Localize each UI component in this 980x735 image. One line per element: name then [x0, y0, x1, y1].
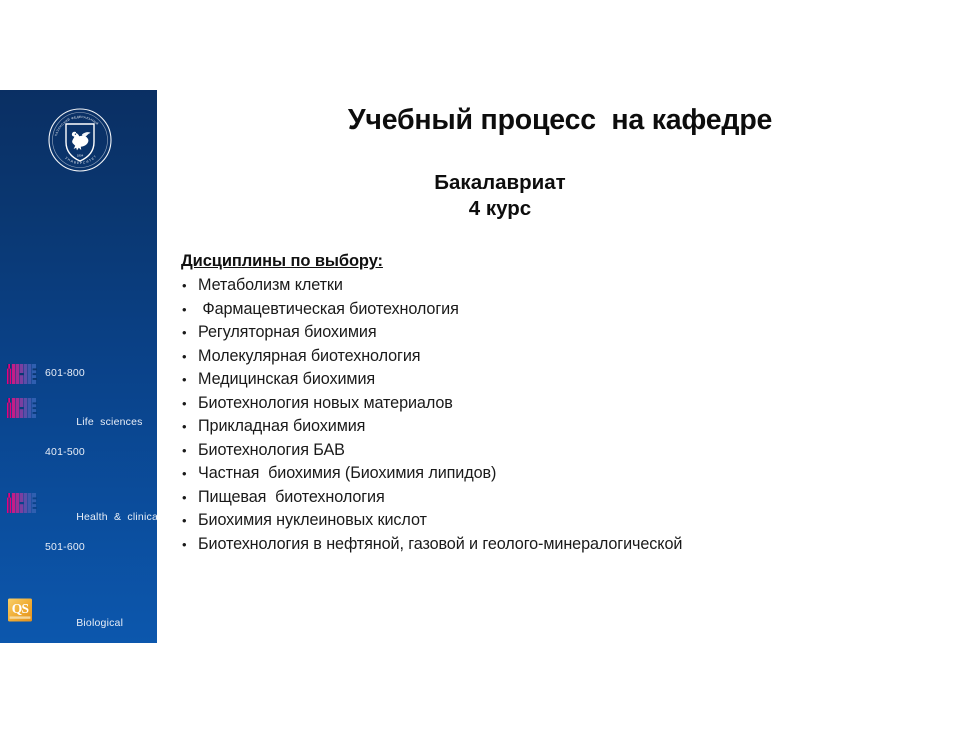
list-item-label: Метаболизм клетки [198, 276, 343, 294]
ranking-text-line1: Health & clinical [76, 511, 157, 523]
page-title: Учебный процесс на кафедре [180, 104, 940, 137]
list-item-label: Пищевая биотехнология [198, 488, 385, 506]
list-item-label: Биотехнология новых материалов [198, 394, 453, 412]
list-item-label: Биохимия нуклеиновых кислот [198, 511, 427, 529]
ranking-text-line1: Life sciences [76, 416, 142, 428]
list-item: •Частная биохимия (Биохимия липидов) [181, 462, 921, 486]
list-item: •Регуляторная биохимия [181, 321, 921, 345]
bullet-icon: • [182, 439, 186, 463]
disciplines-list: •Метаболизм клетки • Фармацевтическая би… [181, 274, 921, 556]
list-item: •Метаболизм клетки [181, 274, 921, 298]
the-logo-icon [7, 491, 37, 517]
list-item-label: Биотехнология в нефтяной, газовой и геол… [198, 535, 682, 553]
bullet-icon: • [182, 533, 186, 557]
subtitle-line-degree: Бакалавриат [180, 170, 820, 196]
list-item-label: Регуляторная биохимия [198, 323, 377, 341]
list-item-label: Медицинская биохимия [198, 370, 375, 388]
ranking-text-line1: Biological [76, 617, 123, 629]
slide-canvas: КАЗАНСКИЙ ФЕДЕРАЛЬНЫЙ УНИВЕРСИТЕТ 1804 [0, 0, 980, 735]
list-item: •Биотехнология БАВ [181, 439, 921, 463]
ranking-text: Biological sciences 401-450 [45, 597, 137, 643]
list-item: •Биотехнология в нефтяной, газовой и гео… [181, 533, 921, 557]
the-logo-icon [7, 396, 37, 422]
bullet-icon: • [182, 274, 186, 298]
bullet-icon: • [182, 392, 186, 416]
ranking-text: Health & clinical 501-600 [45, 491, 157, 585]
bullet-icon: • [182, 486, 186, 510]
disciplines-heading: Дисциплины по выбору: [181, 252, 383, 271]
university-emblem: КАЗАНСКИЙ ФЕДЕРАЛЬНЫЙ УНИВЕРСИТЕТ 1804 [46, 106, 114, 174]
list-item-label: Молекулярная биотехнология [198, 347, 420, 365]
list-item-label: Фармацевтическая биотехнология [198, 300, 459, 318]
svg-text:1804: 1804 [77, 154, 84, 158]
list-item-label: Частная биохимия (Биохимия липидов) [198, 464, 496, 482]
bullet-icon: • [182, 298, 186, 322]
list-item: •Биохимия нуклеиновых кислот [181, 509, 921, 533]
list-item: •Биотехнология новых материалов [181, 392, 921, 416]
bullet-icon: • [182, 368, 186, 392]
list-item: •Пищевая биотехнология [181, 486, 921, 510]
ranking-text: 601-800 [45, 362, 85, 381]
bullet-icon: • [182, 509, 186, 533]
svg-text:КАЗАНСКИЙ ФЕДЕРАЛЬНЫЙ: КАЗАНСКИЙ ФЕДЕРАЛЬНЫЙ [54, 115, 100, 136]
list-item: •Молекулярная биотехнология [181, 345, 921, 369]
ranking-row: Health & clinical 501-600 [0, 491, 157, 585]
the-logo-icon [7, 362, 37, 388]
subtitle-line-year: 4 курс [180, 196, 820, 222]
ranking-text: Life sciences 401-500 [45, 396, 143, 490]
ranking-text-line2: 401-500 [45, 445, 143, 460]
ranking-row: Life sciences 401-500 [0, 396, 157, 490]
bullet-icon: • [182, 415, 186, 439]
rankings-list: 601-800 [0, 362, 157, 643]
list-item-label: Биотехнология БАВ [198, 441, 345, 459]
bullet-icon: • [182, 462, 186, 486]
list-item: •Прикладная биохимия [181, 415, 921, 439]
ranking-text-line2: 501-600 [45, 540, 157, 555]
page-subtitle: Бакалавриат 4 курс [180, 170, 820, 222]
ranking-row: 601-800 [0, 362, 157, 388]
qs-logo-icon: QS [7, 597, 37, 623]
bullet-icon: • [182, 345, 186, 369]
list-item-label: Прикладная биохимия [198, 417, 365, 435]
svg-text:QS: QS [12, 601, 29, 616]
ranking-row: QS Biological sciences 401-450 [0, 597, 157, 643]
list-item: • Фармацевтическая биотехнология [181, 298, 921, 322]
list-item: •Медицинская биохимия [181, 368, 921, 392]
bullet-icon: • [182, 321, 186, 345]
brand-sidebar: КАЗАНСКИЙ ФЕДЕРАЛЬНЫЙ УНИВЕРСИТЕТ 1804 [0, 90, 157, 643]
